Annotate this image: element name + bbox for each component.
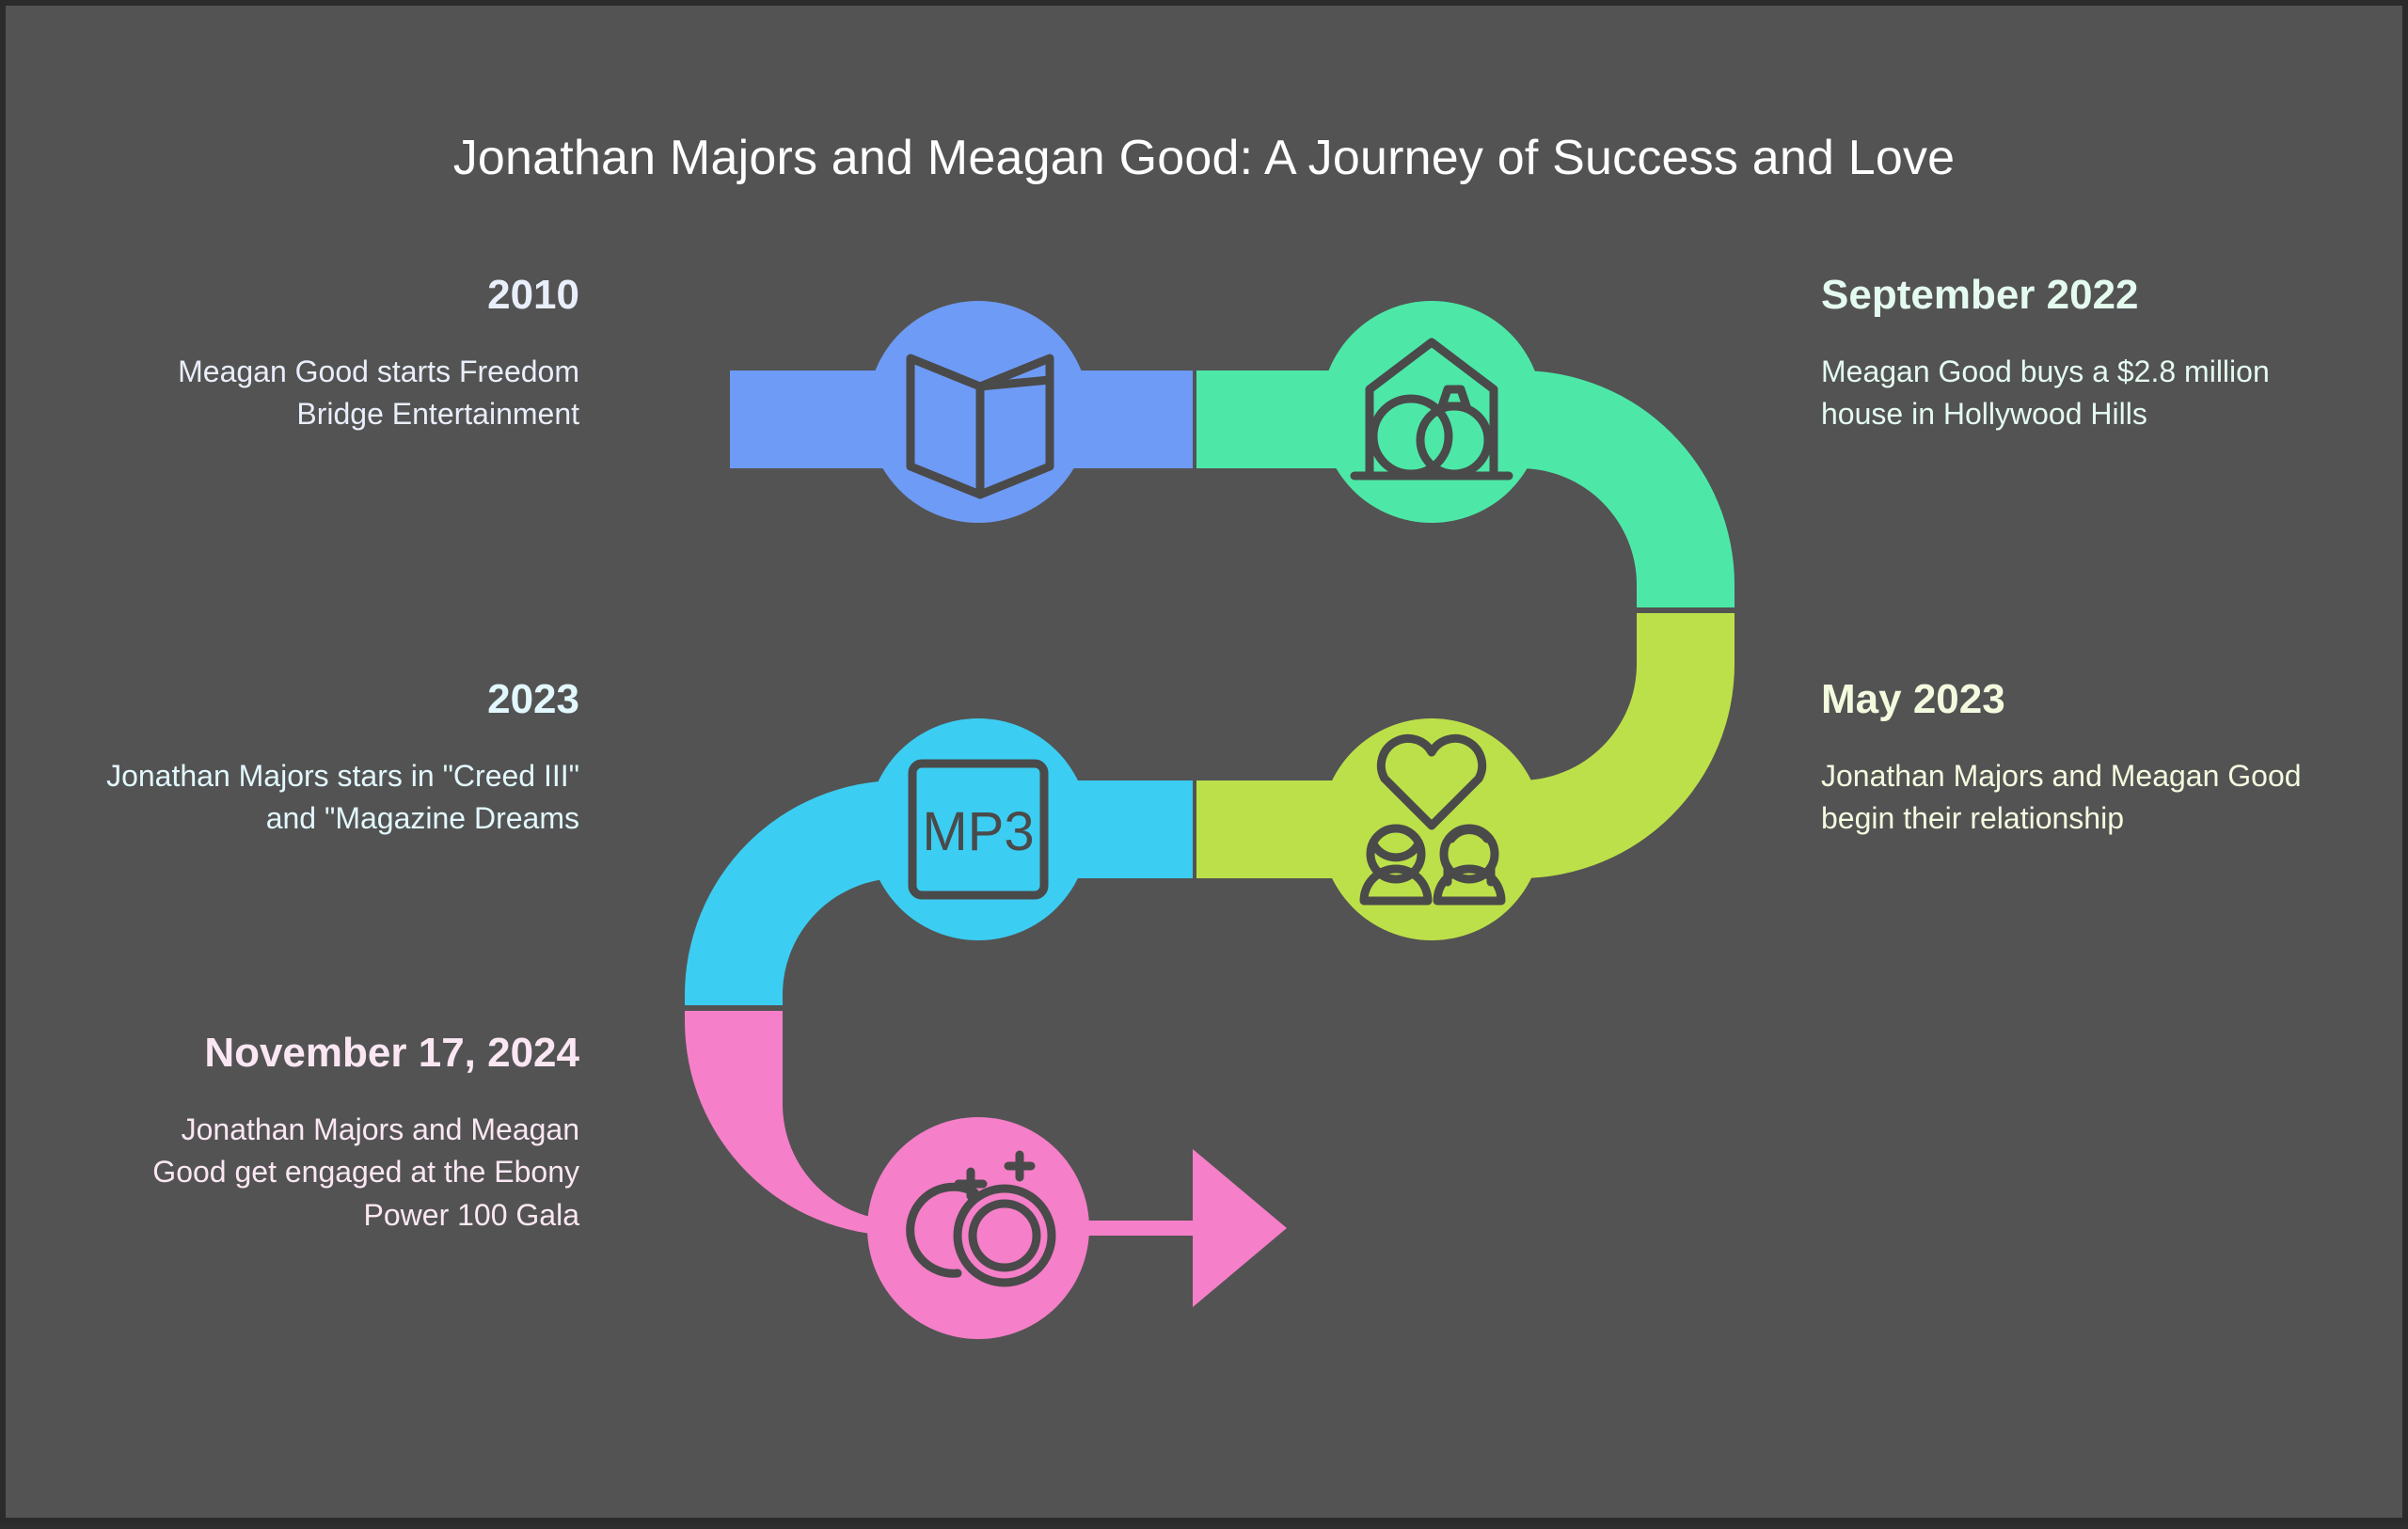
timeline-node-2023[interactable]: MP3 [867, 718, 1089, 940]
event-block-2023: 2023 Jonathan Majors stars in "Creed III… [62, 675, 579, 841]
event-date-may-2023: May 2023 [1821, 675, 2348, 723]
event-description-2023: Jonathan Majors stars in "Creed III" and… [62, 755, 579, 841]
event-block-2010: 2010 Meagan Good starts Freedom Bridge E… [100, 271, 579, 436]
event-block-may-2023: May 2023 Jonathan Majors and Meagan Good… [1821, 675, 2348, 841]
event-date-2023: 2023 [62, 675, 579, 723]
event-description-2010: Meagan Good starts Freedom Bridge Entert… [100, 351, 579, 436]
timeline-node-may-2023[interactable] [1321, 718, 1543, 940]
timeline-node-2010[interactable] [867, 301, 1089, 523]
timeline-node-november-17-2024[interactable] [867, 1117, 1089, 1339]
event-description-november-17-2024: Jonathan Majors and Meagan Good get enga… [100, 1109, 579, 1237]
node-circle-pink [867, 1117, 1089, 1339]
event-date-2010: 2010 [100, 271, 579, 319]
event-date-november-17-2024: November 17, 2024 [100, 1029, 579, 1077]
event-block-november-17-2024: November 17, 2024 Jonathan Majors and Me… [100, 1029, 579, 1237]
event-date-september-2022: September 2022 [1821, 271, 2348, 319]
timeline-node-september-2022[interactable] [1321, 301, 1543, 523]
mp3-icon-label: MP3 [922, 801, 1034, 862]
event-block-september-2022: September 2022 Meagan Good buys a $2.8 m… [1821, 271, 2348, 436]
event-description-september-2022: Meagan Good buys a $2.8 million house in… [1821, 351, 2348, 436]
infographic-canvas: Jonathan Majors and Meagan Good: A Journ… [0, 0, 2408, 1523]
event-description-may-2023: Jonathan Majors and Meagan Good begin th… [1821, 755, 2348, 841]
